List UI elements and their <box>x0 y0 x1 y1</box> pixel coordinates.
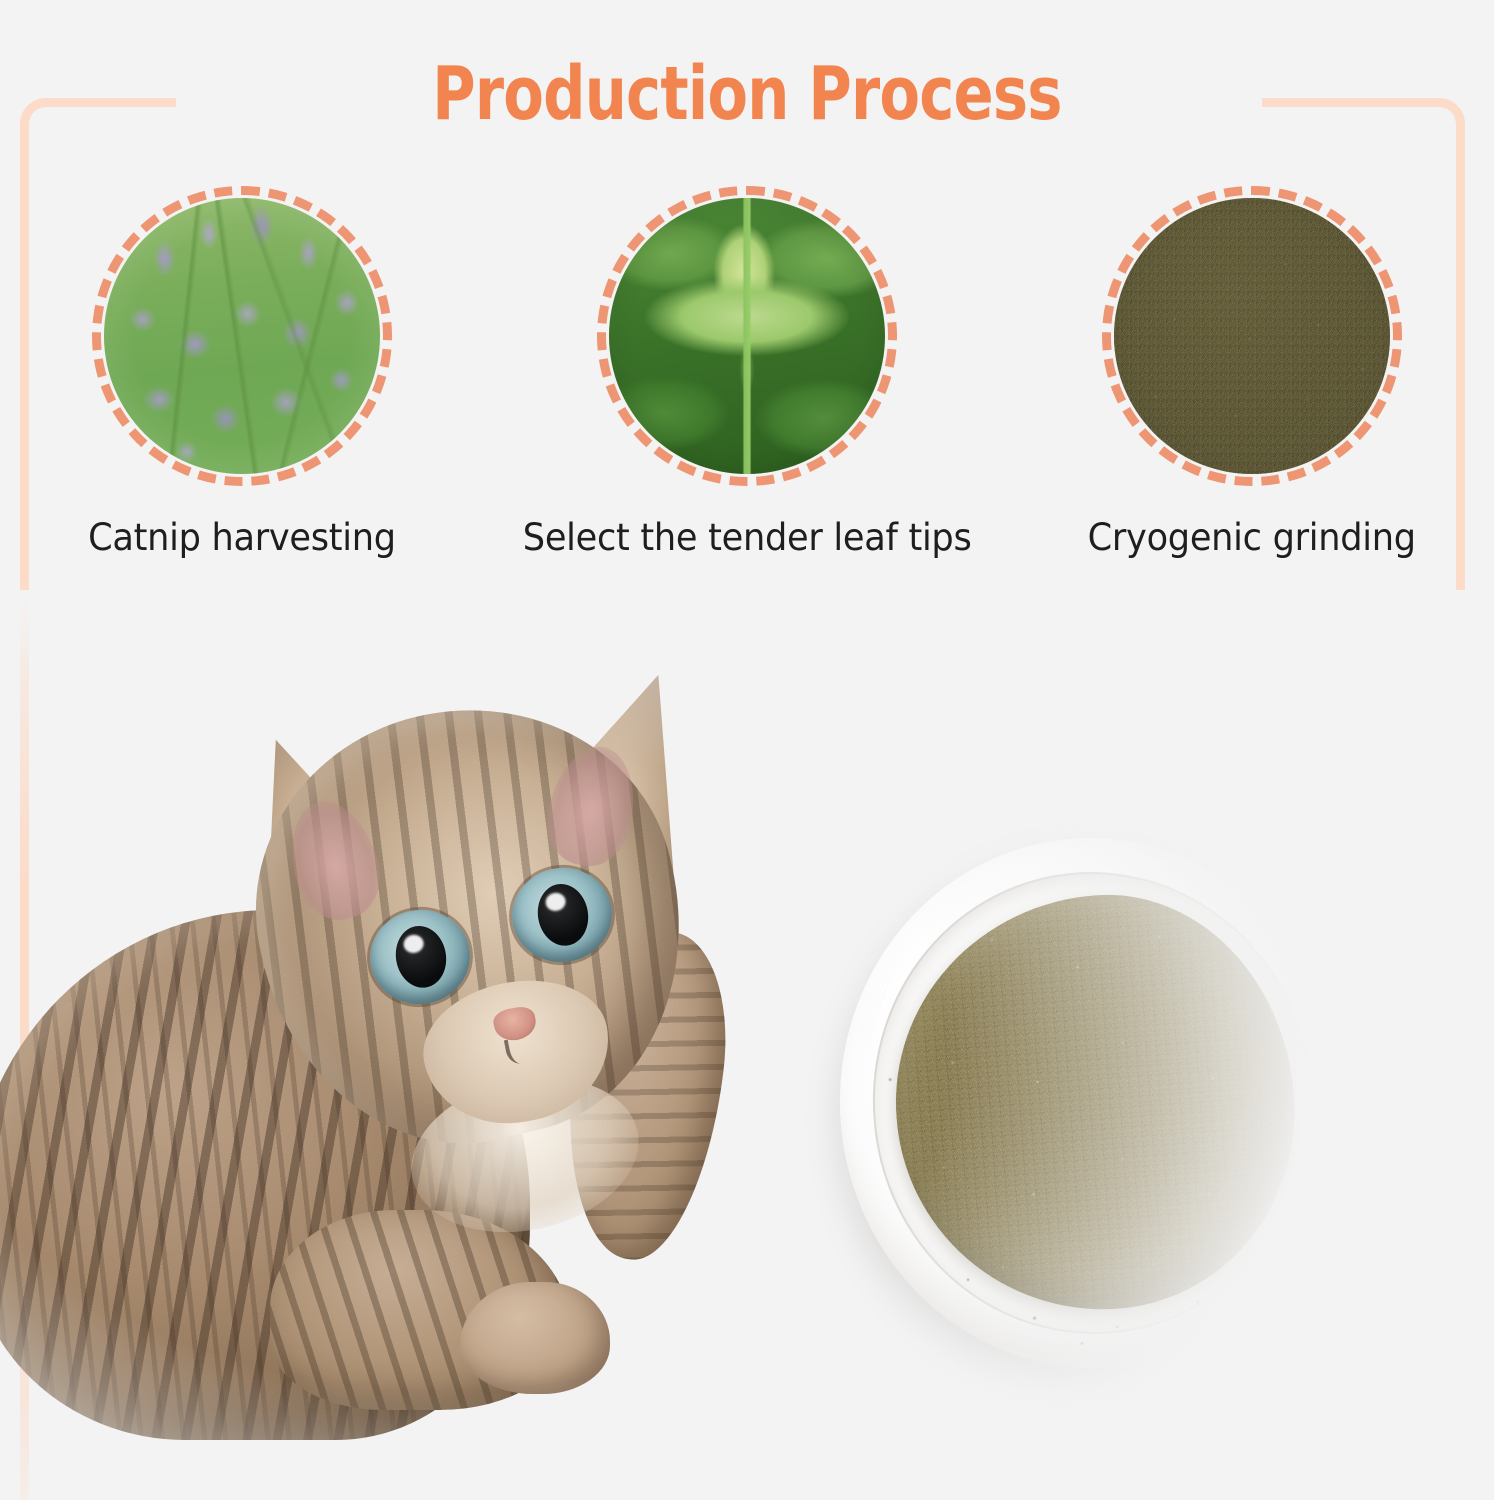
step-1-label: Catnip harvesting <box>88 516 396 559</box>
tabby-kitten-photo <box>0 610 760 1440</box>
step-3-image-ring <box>1102 186 1402 486</box>
kitten-paw <box>460 1282 610 1394</box>
kitten-right-pupil <box>533 880 593 950</box>
production-process-steps: Catnip harvesting Select the tender leaf… <box>22 186 1472 559</box>
catnip-field-in-bloom-photo <box>104 198 380 474</box>
hero-photo-area <box>0 590 1494 1500</box>
step-2-label: Select the tender leaf tips <box>523 516 972 559</box>
step-3-label: Cryogenic grinding <box>1088 516 1416 559</box>
page-title: Production Process <box>149 57 1344 131</box>
process-step-cryogenic-grinding: Cryogenic grinding <box>1032 186 1472 559</box>
kitten-left-pupil <box>391 922 451 992</box>
white-dish-with-catnip-powder-photo <box>822 821 1363 1385</box>
ground-catnip-powder-photo <box>1114 198 1390 474</box>
process-step-select-leaf-tips: Select the tender leaf tips <box>527 186 967 559</box>
catnip-tender-leaf-tips-photo <box>609 198 885 474</box>
step-1-image-ring <box>92 186 392 486</box>
step-2-image-ring <box>597 186 897 486</box>
process-step-catnip-harvesting: Catnip harvesting <box>22 186 462 559</box>
